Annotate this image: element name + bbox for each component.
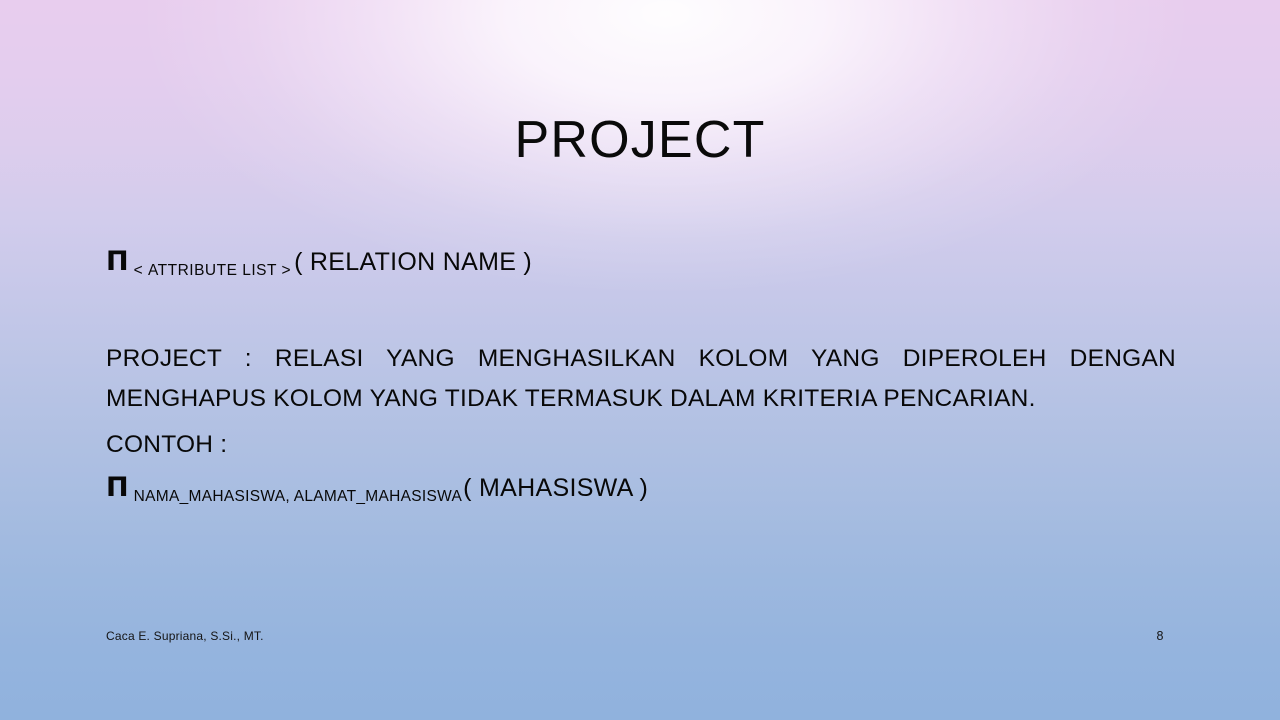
syntax-formula-subscript: < ATTRIBUTE LIST >: [129, 262, 294, 279]
spacer: [106, 277, 1176, 339]
projection-operator-icon: Π: [106, 246, 129, 277]
page-title: PROJECT: [0, 112, 1280, 169]
spacer: [106, 460, 1176, 472]
syntax-formula-operand: ( RELATION NAME ): [294, 248, 532, 276]
slide-body: Π< ATTRIBUTE LIST >( RELATION NAME ) PRO…: [106, 246, 1176, 503]
footer-author: Caca E. Supriana, S.Si., MT.: [106, 629, 264, 643]
projection-operator-icon: Π: [106, 472, 129, 503]
syntax-formula: Π< ATTRIBUTE LIST >( RELATION NAME ): [106, 246, 1176, 277]
page-number: 8: [1140, 629, 1180, 643]
example-formula-operand: ( MAHASISWA ): [463, 474, 648, 502]
example-formula-subscript: NAMA_MAHASISWA, ALAMAT_MAHASISWA: [129, 488, 464, 505]
definition-paragraph: PROJECT : RELASI YANG MENGHASILKAN KOLOM…: [106, 339, 1176, 418]
spacer: [106, 418, 1176, 430]
slide: PROJECT Π< ATTRIBUTE LIST >( RELATION NA…: [0, 0, 1280, 720]
example-formula: ΠNAMA_MAHASISWA, ALAMAT_MAHASISWA( MAHAS…: [106, 472, 1176, 503]
example-label: CONTOH :: [106, 430, 1176, 459]
